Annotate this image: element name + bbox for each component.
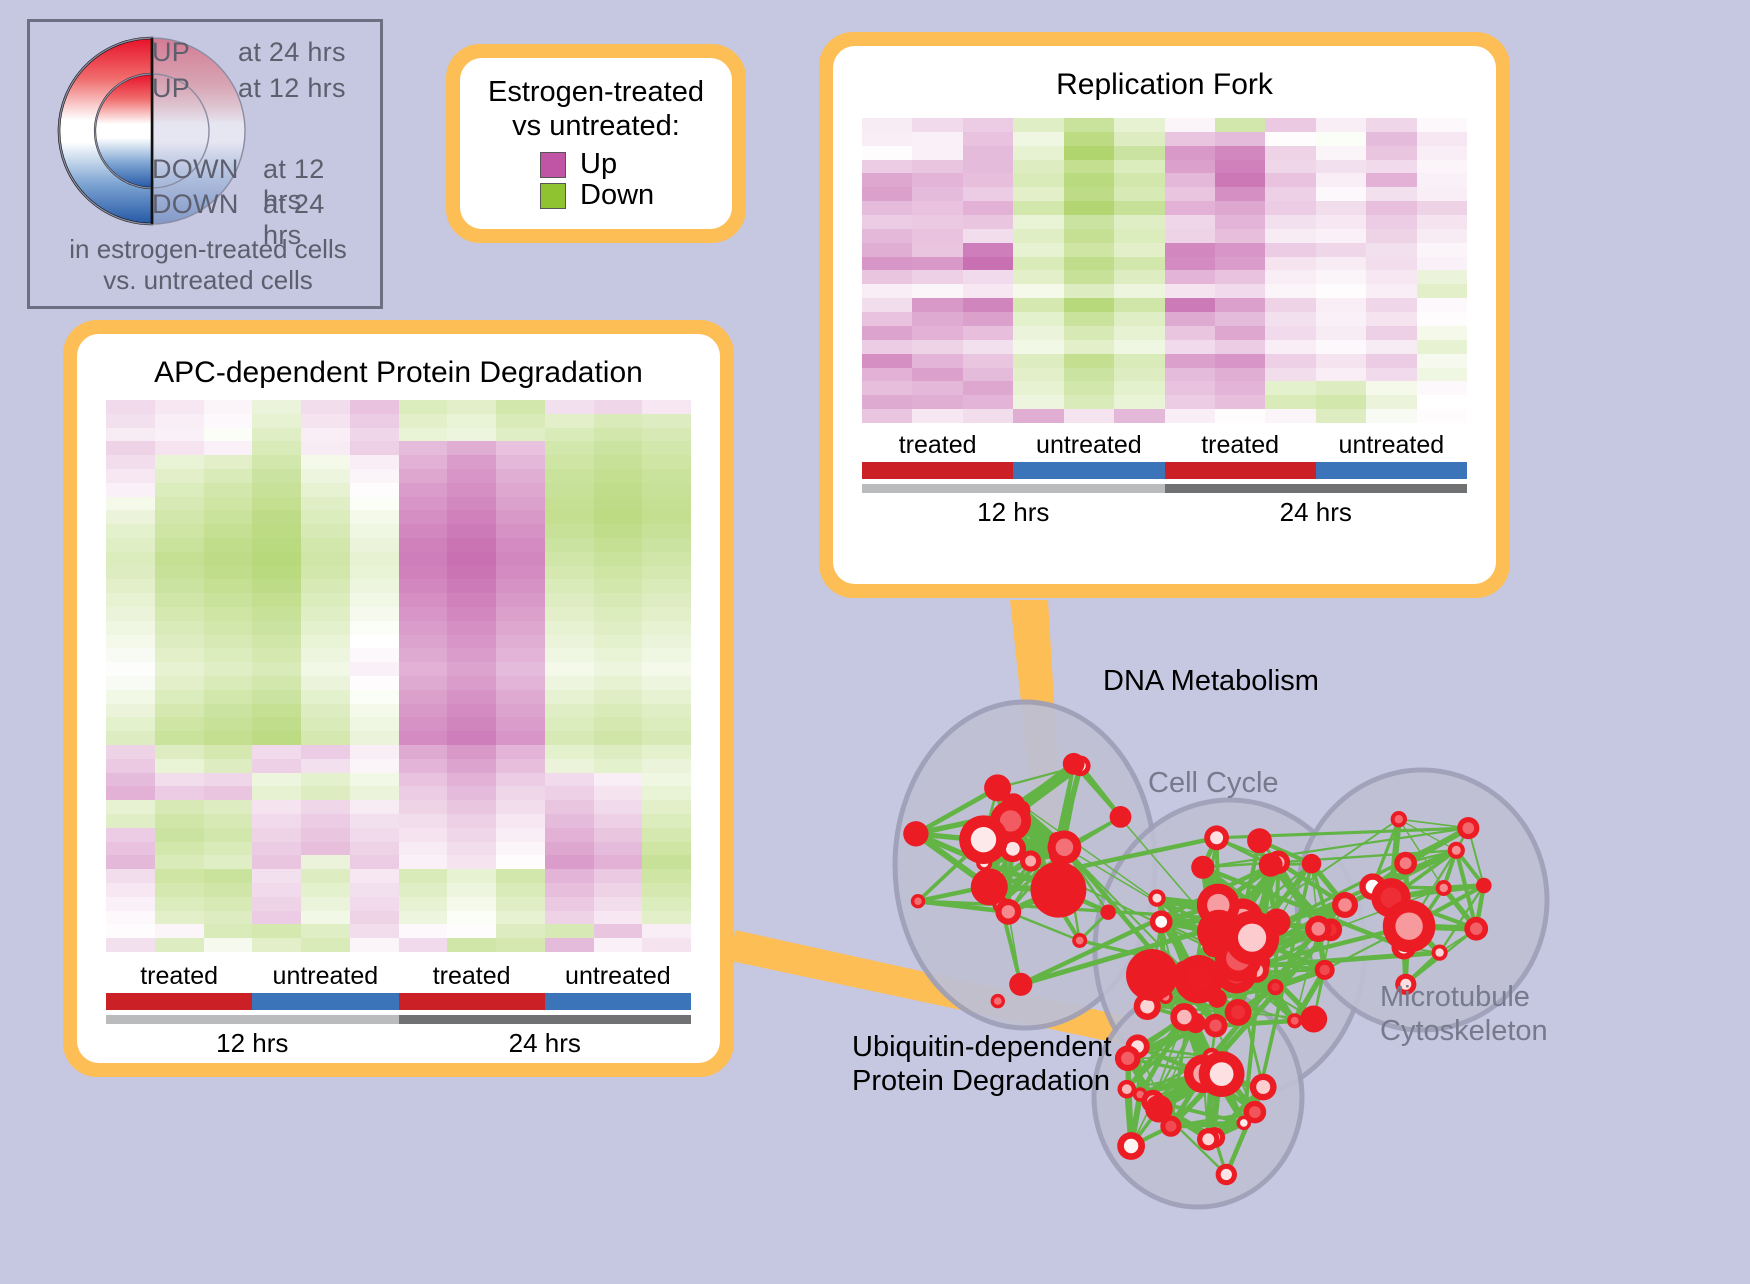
network-node[interactable]: [1287, 1013, 1302, 1028]
node-core: [1452, 846, 1461, 855]
heatmap-cell: [399, 828, 448, 842]
heatmap-cell: [1064, 257, 1114, 271]
heatmap-cell: [350, 469, 399, 483]
heatmap-cell: [594, 621, 643, 635]
apc-heatmap: [106, 400, 691, 952]
heatmap-cell: [447, 524, 496, 538]
network-node[interactable]: [903, 821, 928, 846]
heatmap-cell: [642, 704, 691, 718]
heatmap-cell: [1013, 215, 1063, 229]
heatmap-cell: [496, 731, 545, 745]
heatmap-cell: [399, 676, 448, 690]
network-node[interactable]: [1315, 960, 1335, 980]
heatmap-cell: [447, 786, 496, 800]
network-node[interactable]: [1436, 880, 1452, 896]
network-node[interactable]: [1118, 1080, 1137, 1099]
node-core: [1121, 1052, 1134, 1065]
heatmap-cell: [399, 648, 448, 662]
heatmap-cell: [1064, 298, 1114, 312]
network-node[interactable]: [1110, 806, 1132, 828]
heatmap-cell: [204, 800, 253, 814]
heatmap-cell: [447, 510, 496, 524]
heatmap-cell: [106, 690, 155, 704]
heatmap-cell: [399, 842, 448, 856]
heatmap-cell: [545, 717, 594, 731]
heatmap-cell: [204, 883, 253, 897]
heatmap-cell: [545, 566, 594, 580]
network-node[interactable]: [1394, 852, 1417, 875]
heatmap-cell: [1013, 160, 1063, 174]
heatmap-cell: [1165, 160, 1215, 174]
network-node[interactable]: [1063, 753, 1085, 775]
network-node[interactable]: [1072, 933, 1087, 948]
heatmap-cell: [204, 469, 253, 483]
heatmap-cell: [1265, 146, 1315, 160]
heatmap-cell: [594, 842, 643, 856]
heatmap-cell: [447, 662, 496, 676]
heatmap-cell: [301, 883, 350, 897]
heatmap-cell: [106, 773, 155, 787]
heatmap-cell: [1366, 201, 1416, 215]
heatmap-cell: [545, 441, 594, 455]
heatmap-cell: [1114, 326, 1164, 340]
heatmap-cell: [1265, 395, 1315, 409]
heatmap-cell: [447, 648, 496, 662]
heatmap-cell: [1114, 146, 1164, 160]
heatmap-cell: [106, 593, 155, 607]
node-core: [1338, 898, 1352, 912]
heatmap-cell: [155, 745, 204, 759]
heatmap-cell: [1366, 312, 1416, 326]
heatmap-cell: [912, 146, 962, 160]
heatmap-cell: [1165, 132, 1215, 146]
heatmap-cell: [301, 745, 350, 759]
heatmap-cell: [545, 842, 594, 856]
heatmap-cell: [1064, 270, 1114, 284]
heatmap-cell: [301, 497, 350, 511]
heatmap-cell: [1064, 132, 1114, 146]
heatmap-cell: [1366, 368, 1416, 382]
heatmap-cell: [106, 842, 155, 856]
network-node[interactable]: [971, 868, 1008, 905]
network-node[interactable]: [1031, 862, 1087, 918]
heatmap-cell: [912, 395, 962, 409]
network-node[interactable]: [995, 899, 1021, 925]
heatmap-cell: [1114, 395, 1164, 409]
heatmap-cell: [301, 524, 350, 538]
heatmap-cell: [204, 455, 253, 469]
network-node[interactable]: [1197, 1128, 1220, 1151]
network-node[interactable]: [911, 894, 925, 908]
heatmap-cell: [1064, 243, 1114, 257]
heatmap-cell: [594, 924, 643, 938]
heatmap-cell: [106, 455, 155, 469]
node-ring: [903, 821, 928, 846]
heatmap-cell: [106, 759, 155, 773]
heatmap-cell: [496, 717, 545, 731]
axis-time-label: 12 hrs: [106, 1028, 399, 1059]
heatmap-cell: [963, 173, 1013, 187]
heatmap-cell: [912, 132, 962, 146]
heatmap-cell: [1366, 215, 1416, 229]
heatmap-cell: [350, 773, 399, 787]
legend-title-line-2: vs untreated:: [474, 110, 718, 144]
axis-time-color-bar: [106, 1015, 399, 1024]
wheel-row-2-label: DOWN: [152, 154, 239, 185]
heatmap-cell: [862, 257, 912, 271]
heatmap-cell: [1114, 298, 1164, 312]
heatmap-cell: [912, 312, 962, 326]
heatmap-cell: [1366, 340, 1416, 354]
heatmap-cell: [1165, 284, 1215, 298]
replication-axis-time-labels: 12 hrs24 hrs: [862, 497, 1467, 528]
heatmap-cell: [963, 187, 1013, 201]
heatmap-cell: [963, 409, 1013, 423]
heatmap-cell: [155, 648, 204, 662]
network-node[interactable]: [1175, 955, 1223, 1003]
color-wheel-legend-box: UP at 24 hrs UP at 12 hrs DOWN at 12 hrs…: [27, 19, 383, 309]
node-core: [1186, 967, 1211, 992]
heatmap-cell: [594, 441, 643, 455]
heatmap-cell: [1064, 409, 1114, 423]
node-core: [1122, 1084, 1132, 1094]
heatmap-cell: [1165, 187, 1215, 201]
network-node[interactable]: [1199, 1051, 1245, 1097]
heatmap-cell: [642, 897, 691, 911]
heatmap-cell: [1114, 270, 1164, 284]
heatmap-cell: [912, 243, 962, 257]
heatmap-cell: [447, 552, 496, 566]
node-core: [1291, 1017, 1299, 1025]
heatmap-cell: [862, 146, 912, 160]
network-node[interactable]: [1383, 900, 1436, 953]
heatmap-cell: [1013, 298, 1063, 312]
heatmap-cell: [106, 635, 155, 649]
heatmap-cell: [252, 455, 301, 469]
heatmap-cell: [155, 676, 204, 690]
down-color-swatch: [540, 183, 566, 209]
heatmap-cell: [155, 621, 204, 635]
heatmap-cell: [496, 911, 545, 925]
heatmap-cell: [1417, 395, 1467, 409]
heatmap-cell: [1013, 284, 1063, 298]
network-node[interactable]: [1259, 853, 1283, 877]
up-label: Up: [580, 150, 617, 179]
network-node[interactable]: [1204, 1014, 1228, 1038]
heatmap-cell: [155, 897, 204, 911]
node-core: [994, 997, 1002, 1005]
heatmap-cell: [594, 483, 643, 497]
network-node[interactable]: [1457, 817, 1479, 839]
heatmap-cell: [301, 924, 350, 938]
axis-group-color-bar: [106, 993, 252, 1010]
node-core: [1076, 937, 1084, 945]
heatmap-cell: [1417, 270, 1467, 284]
heatmap-cell: [106, 731, 155, 745]
heatmap-cell: [301, 662, 350, 676]
network-node[interactable]: [1302, 854, 1322, 874]
heatmap-cell: [594, 400, 643, 414]
heatmap-cell: [1265, 284, 1315, 298]
heatmap-cell: [106, 607, 155, 621]
network-node[interactable]: [991, 994, 1005, 1008]
wheel-row-1-time: at 12 hrs: [238, 73, 346, 104]
heatmap-cell: [545, 483, 594, 497]
network-node[interactable]: [1126, 949, 1178, 1001]
heatmap-cell: [963, 201, 1013, 215]
network-node[interactable]: [1250, 1074, 1277, 1101]
node-ring: [984, 774, 1011, 801]
heatmap-cell: [912, 201, 962, 215]
heatmap-cell: [301, 469, 350, 483]
network-node[interactable]: [1300, 1006, 1327, 1033]
heatmap-cell: [1417, 201, 1467, 215]
node-core: [1165, 1121, 1176, 1132]
heatmap-cell: [106, 786, 155, 800]
heatmap-cell: [642, 538, 691, 552]
heatmap-cell: [963, 118, 1013, 132]
heatmap-cell: [252, 759, 301, 773]
heatmap-cell: [350, 883, 399, 897]
heatmap-cell: [350, 552, 399, 566]
heatmap-cell: [1265, 118, 1315, 132]
heatmap-cell: [350, 662, 399, 676]
network-node[interactable]: [1225, 911, 1279, 965]
heatmap-cell: [1165, 312, 1215, 326]
heatmap-cell: [594, 897, 643, 911]
heatmap-cell: [447, 731, 496, 745]
node-core: [1140, 999, 1154, 1013]
heatmap-cell: [642, 607, 691, 621]
heatmap-cell: [1316, 395, 1366, 409]
heatmap-cell: [594, 524, 643, 538]
heatmap-cell: [496, 828, 545, 842]
network-node[interactable]: [1170, 1003, 1198, 1031]
heatmap-cell: [912, 118, 962, 132]
heatmap-cell: [350, 414, 399, 428]
heatmap-cell: [204, 497, 253, 511]
heatmap-cell: [204, 869, 253, 883]
network-node[interactable]: [1432, 945, 1448, 961]
network-node[interactable]: [1476, 878, 1492, 894]
heatmap-cell: [963, 243, 1013, 257]
heatmap-cell: [1215, 395, 1265, 409]
network-node[interactable]: [1332, 892, 1358, 918]
heatmap-cell: [1013, 409, 1063, 423]
heatmap-cell: [496, 483, 545, 497]
heatmap-cell: [642, 828, 691, 842]
heatmap-cell: [912, 160, 962, 174]
heatmap-cell: [399, 924, 448, 938]
heatmap-cell: [1215, 368, 1265, 382]
heatmap-cell: [1114, 118, 1164, 132]
network-node[interactable]: [1448, 842, 1465, 859]
heatmap-cell: [594, 469, 643, 483]
heatmap-cell: [545, 607, 594, 621]
network-node[interactable]: [1391, 811, 1407, 827]
heatmap-cell: [496, 855, 545, 869]
axis-time-label: 12 hrs: [862, 497, 1165, 528]
heatmap-cell: [963, 340, 1013, 354]
heatmap-cell: [1114, 243, 1164, 257]
heatmap-cell: [1215, 229, 1265, 243]
network-node[interactable]: [1115, 1046, 1141, 1072]
network-node[interactable]: [1244, 1101, 1267, 1124]
heatmap-cell: [862, 270, 912, 284]
heatmap-cell: [963, 395, 1013, 409]
up-down-legend-title: Estrogen-treated vs untreated:: [474, 76, 718, 143]
heatmap-cell: [1316, 257, 1366, 271]
node-core: [1210, 831, 1223, 844]
heatmap-cell: [912, 354, 962, 368]
heatmap-cell: [399, 510, 448, 524]
heatmap-cell: [545, 828, 594, 842]
heatmap-cell: [399, 704, 448, 718]
node-core: [1271, 983, 1279, 991]
heatmap-cell: [204, 814, 253, 828]
node-core: [1221, 1169, 1232, 1180]
heatmap-cell: [1366, 409, 1416, 423]
network-node[interactable]: [1145, 1095, 1173, 1123]
node-core: [1006, 842, 1020, 856]
network-node[interactable]: [1100, 905, 1115, 920]
network-node[interactable]: [1204, 825, 1229, 850]
heatmap-cell: [155, 593, 204, 607]
network-node[interactable]: [1305, 916, 1331, 942]
heatmap-cell: [252, 621, 301, 635]
heatmap-cell: [862, 326, 912, 340]
heatmap-cell: [155, 455, 204, 469]
heatmap-cell: [1064, 284, 1114, 298]
heatmap-cell: [496, 607, 545, 621]
node-ring: [1031, 862, 1087, 918]
heatmap-cell: [301, 731, 350, 745]
axis-group-label: untreated: [545, 962, 691, 991]
heatmap-cell: [1064, 368, 1114, 382]
heatmap-cell: [155, 579, 204, 593]
up-down-legend-items: Up Down: [474, 150, 718, 210]
heatmap-cell: [1215, 243, 1265, 257]
network-node[interactable]: [1148, 889, 1165, 906]
heatmap-cell: [301, 911, 350, 925]
heatmap-cell: [862, 340, 912, 354]
heatmap-cell: [350, 607, 399, 621]
heatmap-cell: [106, 483, 155, 497]
heatmap-cell: [496, 593, 545, 607]
node-ring: [1247, 828, 1272, 853]
heatmap-cell: [350, 855, 399, 869]
heatmap-cell: [594, 455, 643, 469]
heatmap-cell: [399, 897, 448, 911]
heatmap-cell: [1417, 132, 1467, 146]
heatmap-cell: [106, 469, 155, 483]
heatmap-cell: [301, 786, 350, 800]
network-node[interactable]: [1216, 1164, 1237, 1185]
heatmap-cell: [1064, 381, 1114, 395]
network-node[interactable]: [1247, 828, 1272, 853]
heatmap-cell: [1114, 187, 1164, 201]
axis-group-color-bar: [545, 993, 691, 1010]
heatmap-cell: [496, 869, 545, 883]
heatmap-cell: [252, 869, 301, 883]
network-node[interactable]: [959, 815, 1008, 864]
heatmap-cell: [594, 786, 643, 800]
heatmap-cell: [301, 414, 350, 428]
network-node[interactable]: [1150, 910, 1173, 933]
apc-axis-time-labels: 12 hrs24 hrs: [106, 1028, 691, 1059]
heatmap-cell: [399, 538, 448, 552]
axis-time-color-bar: [862, 484, 1165, 493]
heatmap-cell: [1316, 340, 1366, 354]
heatmap-cell: [1114, 409, 1164, 423]
down-label: Down: [580, 181, 654, 210]
heatmap-cell: [594, 566, 643, 580]
caption-line-2: vs. untreated cells: [30, 265, 386, 296]
heatmap-cell: [594, 593, 643, 607]
network-node[interactable]: [1267, 979, 1283, 995]
heatmap-cell: [204, 842, 253, 856]
heatmap-cell: [1215, 215, 1265, 229]
heatmap-cell: [1013, 270, 1063, 284]
heatmap-cell: [106, 621, 155, 635]
heatmap-cell: [594, 883, 643, 897]
network-node[interactable]: [1048, 830, 1082, 864]
heatmap-cell: [496, 455, 545, 469]
heatmap-cell: [862, 132, 912, 146]
heatmap-cell: [1013, 395, 1063, 409]
network-node[interactable]: [1191, 856, 1214, 879]
heatmap-cell: [155, 883, 204, 897]
heatmap-cell: [252, 814, 301, 828]
heatmap-cell: [447, 579, 496, 593]
node-ring: [1476, 878, 1492, 894]
network-node[interactable]: [1117, 1132, 1145, 1160]
heatmap-cell: [1316, 132, 1366, 146]
node-core: [1025, 856, 1036, 867]
heatmap-cell: [1013, 354, 1063, 368]
network-node[interactable]: [1225, 999, 1252, 1026]
heatmap-cell: [594, 538, 643, 552]
heatmap-cell: [963, 368, 1013, 382]
node-ring: [1300, 1006, 1327, 1033]
node-core: [1210, 1062, 1234, 1086]
heatmap-cell: [862, 229, 912, 243]
heatmap-cell: [963, 326, 1013, 340]
heatmap-cell: [155, 828, 204, 842]
up-color-swatch: [540, 152, 566, 178]
network-node[interactable]: [1009, 973, 1032, 996]
heatmap-cell: [545, 635, 594, 649]
heatmap-cell: [350, 800, 399, 814]
heatmap-cell: [594, 800, 643, 814]
network-node[interactable]: [984, 774, 1011, 801]
heatmap-cell: [1064, 312, 1114, 326]
heatmap-cell: [642, 579, 691, 593]
heatmap-cell: [350, 483, 399, 497]
heatmap-cell: [106, 800, 155, 814]
heatmap-cell: [496, 566, 545, 580]
heatmap-cell: [399, 800, 448, 814]
heatmap-cell: [1366, 229, 1416, 243]
heatmap-cell: [1366, 381, 1416, 395]
heatmap-cell: [252, 745, 301, 759]
heatmap-cell: [1114, 160, 1164, 174]
heatmap-cell: [106, 648, 155, 662]
heatmap-cell: [204, 717, 253, 731]
heatmap-cell: [301, 690, 350, 704]
network-node[interactable]: [1464, 917, 1488, 941]
heatmap-cell: [301, 869, 350, 883]
